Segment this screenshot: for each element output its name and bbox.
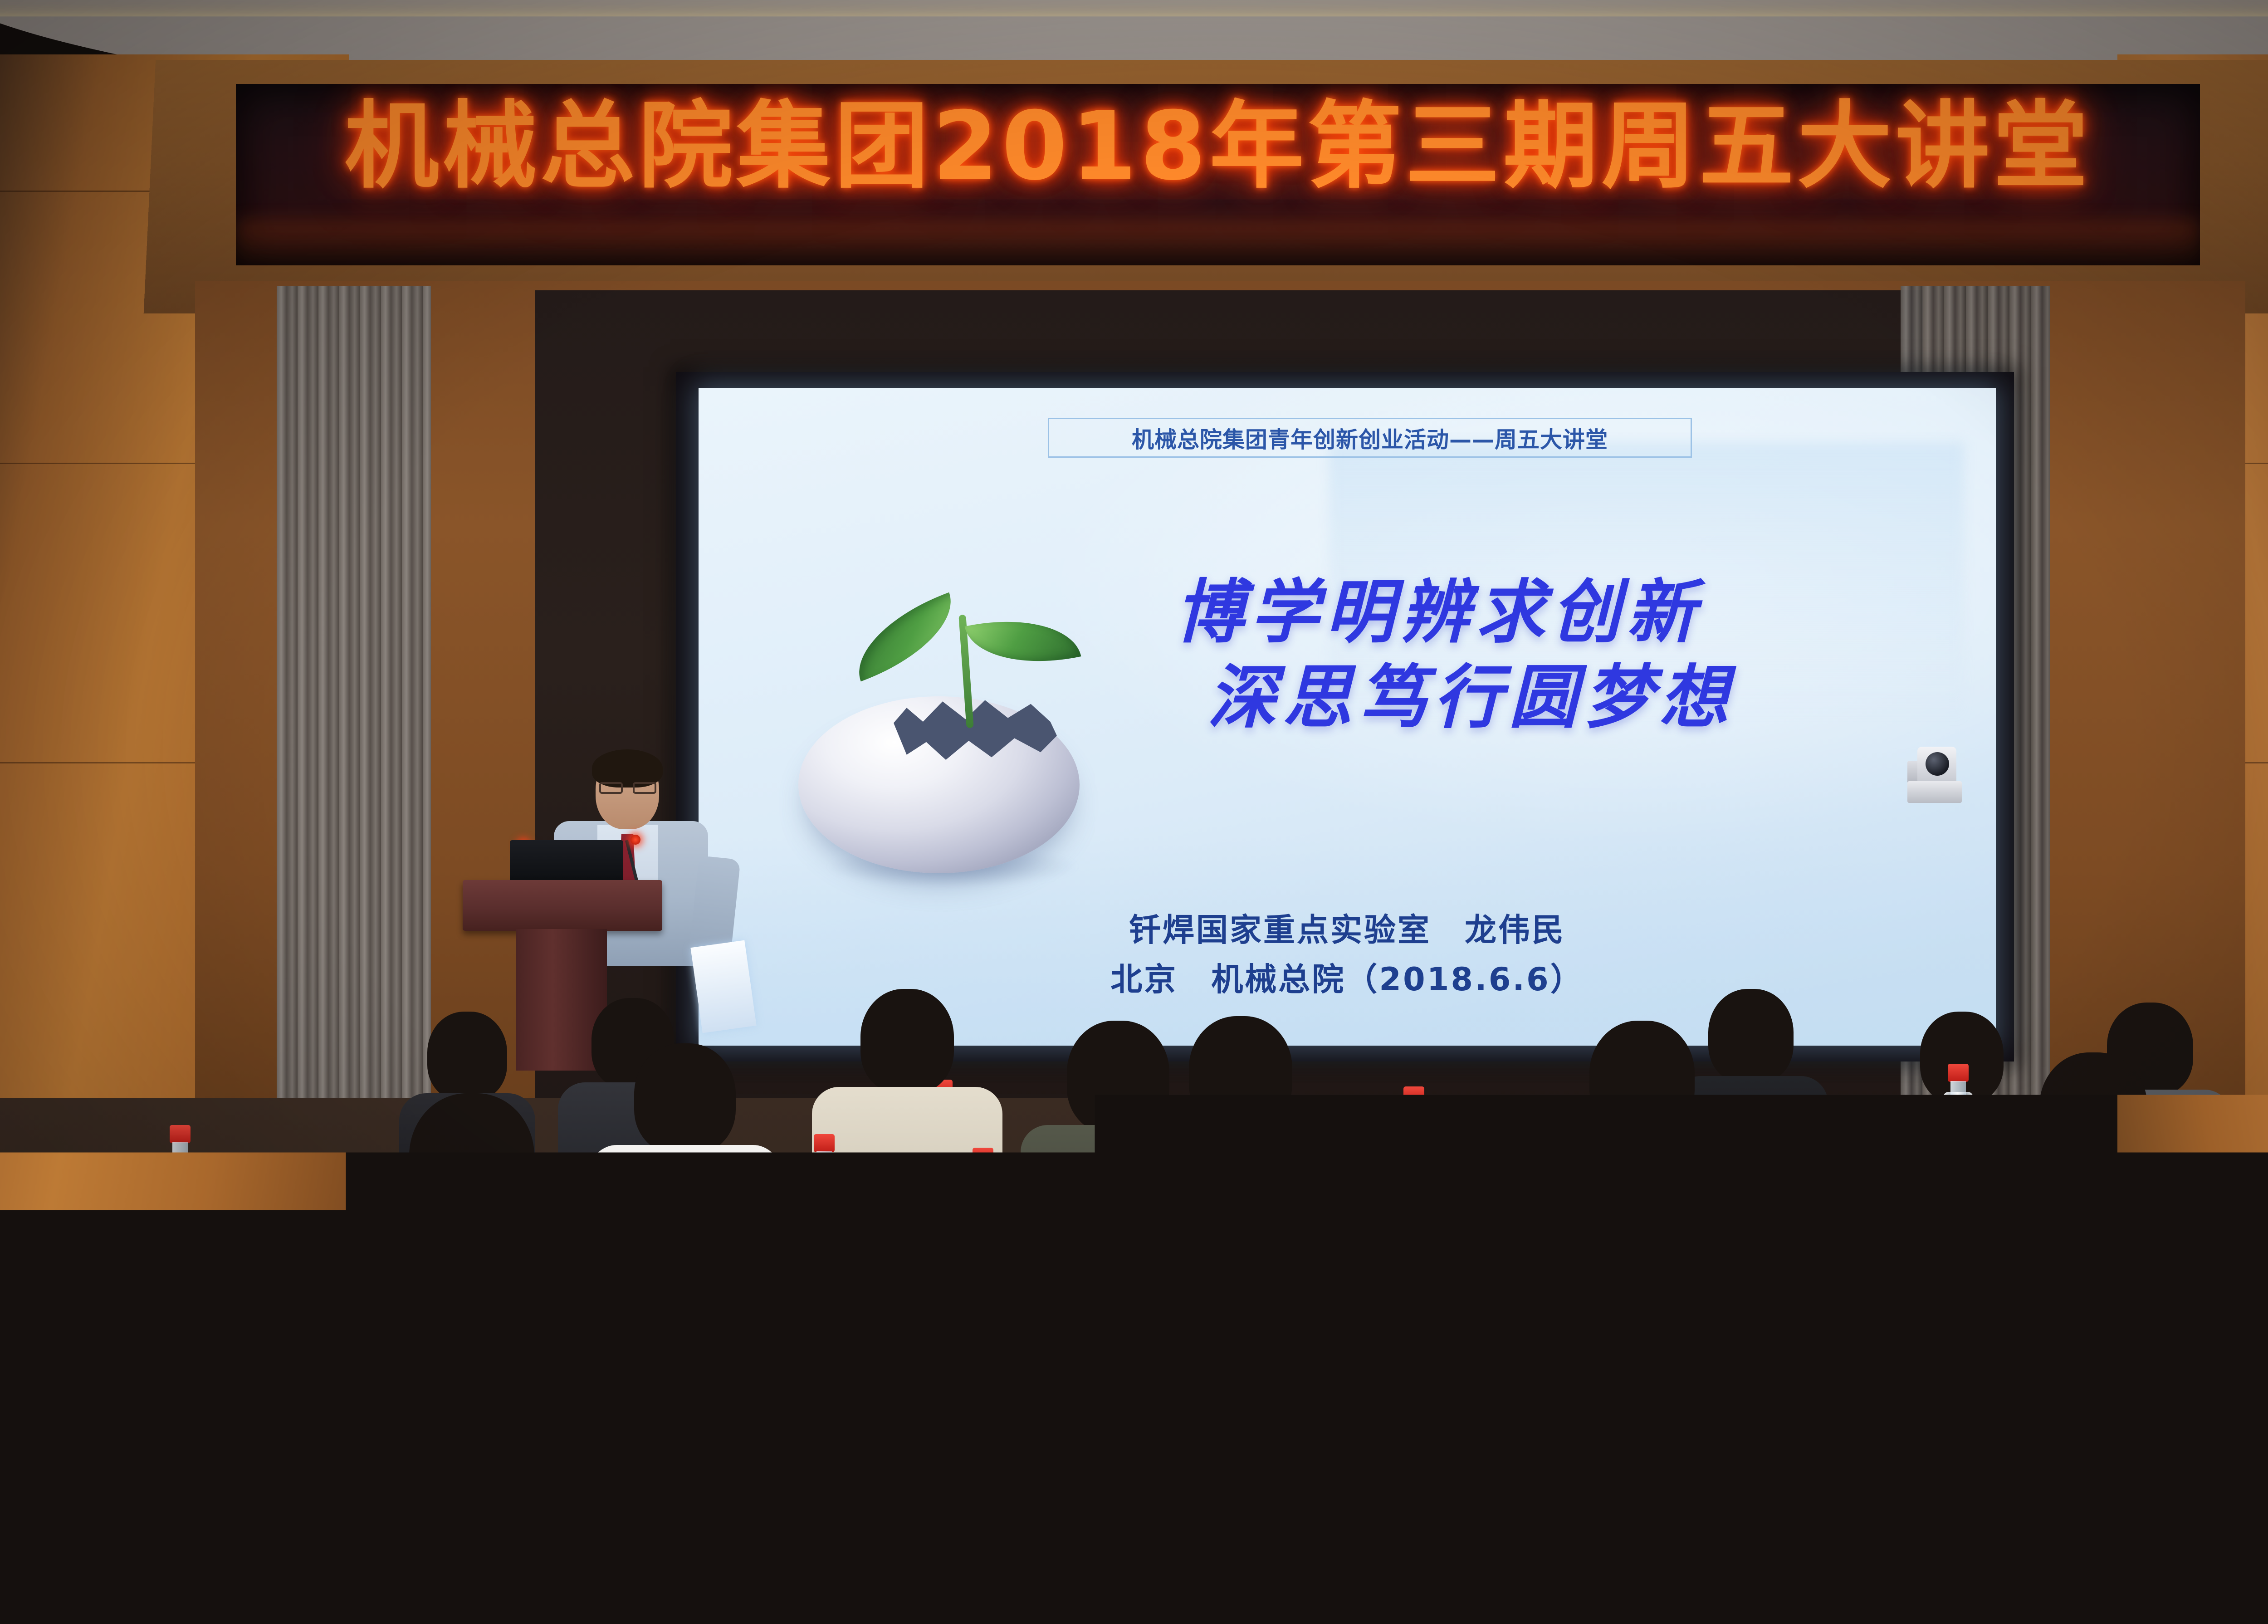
bottle-brand-label: 农夫山泉 bbox=[773, 1396, 803, 1404]
attendee-head bbox=[127, 1220, 318, 1425]
water-bottle: 农夫山泉 bbox=[1284, 1369, 1339, 1556]
audience-chair bbox=[1905, 1247, 2114, 1343]
sprout-leaf-left-icon bbox=[842, 592, 967, 681]
sprout-leaf-right-icon bbox=[965, 604, 1081, 679]
presenter-glasses-icon bbox=[599, 782, 656, 794]
lecture-hall-scene: 机械总院集团2018年第三期周五大讲堂 机械总院集团青年创新创业活动——周五大讲… bbox=[0, 0, 2268, 1624]
audience-chair bbox=[27, 1511, 345, 1624]
microphone-indicator-right bbox=[631, 835, 640, 845]
slide-footer-line-1: 钎焊国家重点实验室 龙伟民 bbox=[699, 905, 1996, 955]
water-bottle: 农夫山泉 bbox=[771, 1297, 805, 1411]
attendee-head bbox=[492, 1157, 679, 1356]
slide-egg-sprout-graphic bbox=[758, 560, 1111, 878]
bottle-brand-label: 农夫山泉 bbox=[538, 1556, 584, 1569]
audience-chair bbox=[2059, 1356, 2268, 1465]
attendee-head bbox=[427, 1012, 507, 1101]
bottle-brand-label: 农夫山泉 bbox=[1881, 1509, 1929, 1523]
podium-top bbox=[463, 880, 662, 931]
attendee-head bbox=[2157, 1161, 2268, 1303]
slide-title-line-2: 深思笃行圆梦想 bbox=[1207, 655, 1955, 740]
attendee-head bbox=[860, 989, 954, 1093]
slide-title: 博学明辨求创新 深思笃行圆梦想 bbox=[1175, 569, 1955, 740]
attendee-head bbox=[975, 1166, 1166, 1370]
water-bottle: 农夫山泉 bbox=[535, 1403, 587, 1579]
water-bottle: 农夫山泉 bbox=[2032, 1238, 2066, 1352]
audience-chair bbox=[862, 1542, 1198, 1624]
podium-laptop bbox=[510, 840, 623, 882]
bottle-brand-label: 农夫山泉 bbox=[1825, 1414, 1855, 1423]
audience-chair bbox=[2032, 1511, 2268, 1624]
water-bottle: 农夫山泉 bbox=[1823, 1316, 1857, 1429]
led-banner-glow bbox=[236, 220, 2200, 265]
attendee-head bbox=[1189, 1016, 1292, 1130]
led-banner-board: 机械总院集团2018年第三期周五大讲堂 bbox=[236, 84, 2200, 265]
slide-header-box: 机械总院集团青年创新创业活动——周五大讲堂 bbox=[1048, 418, 1692, 458]
slide-title-line-1: 博学明辨求创新 bbox=[1175, 569, 1955, 655]
attendee-head bbox=[1514, 1179, 1706, 1384]
attendee-head bbox=[634, 1043, 736, 1154]
led-banner-text: 机械总院集团2018年第三期周五大讲堂 bbox=[236, 99, 2200, 194]
ptz-camera-icon bbox=[1907, 744, 1962, 803]
water-bottle: 农夫山泉 bbox=[1878, 1352, 1931, 1533]
bottle-brand-label: 农夫山泉 bbox=[1287, 1531, 1336, 1546]
slide-header-text: 机械总院集团青年创新创业活动——周五大讲堂 bbox=[1132, 422, 1608, 454]
projection-screen: 机械总院集团青年创新创业活动——周五大讲堂 博学明辨求创新 深思笃行圆梦想 钎焊… bbox=[699, 388, 1996, 1046]
audience-chair bbox=[1520, 1533, 1864, 1624]
ptz-camera-lens bbox=[1926, 752, 1949, 776]
ptz-camera-base bbox=[1907, 781, 1962, 803]
bottle-brand-label: 农夫山泉 bbox=[2034, 1337, 2064, 1345]
attendee-head bbox=[2039, 1052, 2147, 1169]
